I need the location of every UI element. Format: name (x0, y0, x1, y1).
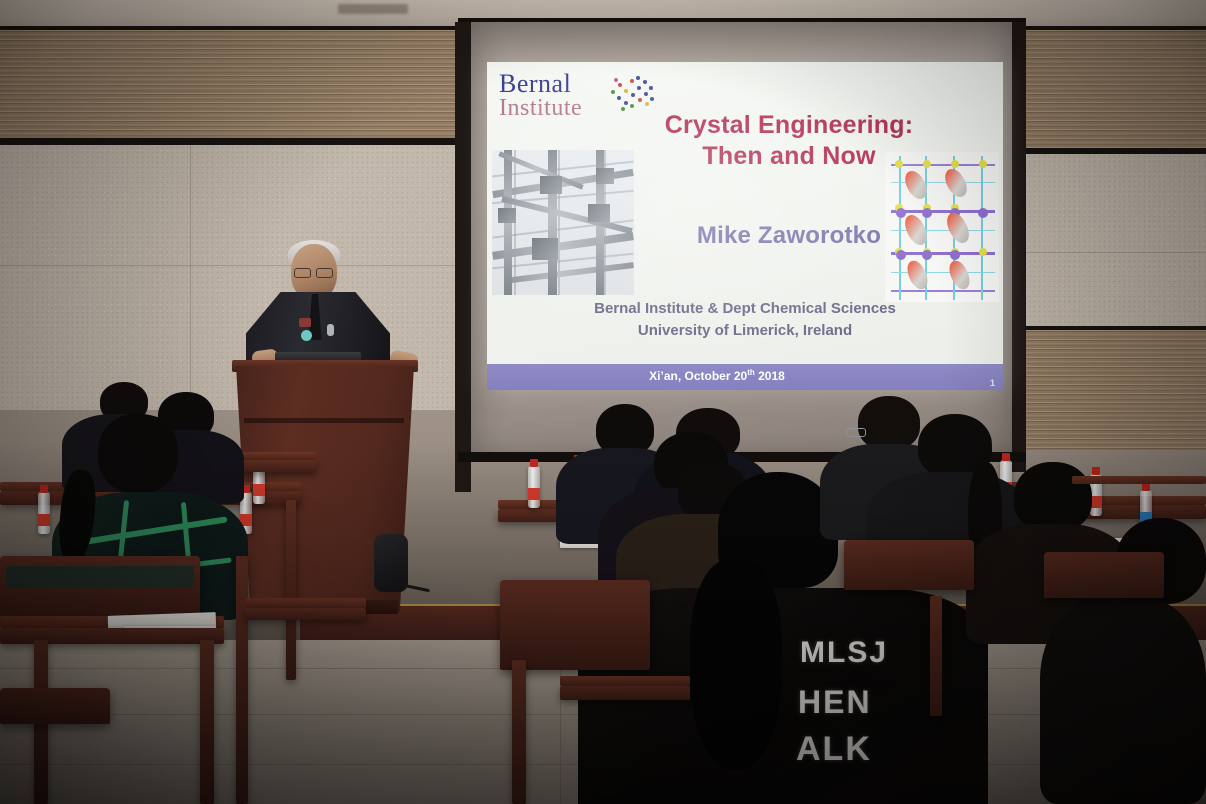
chair-back (500, 580, 650, 670)
desk-surface (560, 676, 690, 686)
water-bottle (528, 466, 540, 508)
lecture-hall-photograph: Bernal Institute (0, 0, 1206, 804)
speaker-name-badge (299, 318, 311, 327)
chair-back (844, 540, 974, 590)
desk-surface (246, 598, 366, 608)
desk (560, 686, 690, 700)
wall-slat-panel-left (0, 30, 468, 140)
desk-leg (286, 500, 296, 680)
jacket-text-line1: MLSJ (800, 636, 888, 670)
wall-slat-panel-right (1022, 30, 1206, 150)
chair-back (0, 688, 110, 724)
footer-date-superscript: th (747, 368, 755, 377)
desk (246, 608, 366, 620)
chair-cushion (6, 566, 194, 588)
desk-leg (512, 660, 526, 804)
footer-date-suffix: 2018 (755, 369, 785, 383)
screen-frame-right (1012, 22, 1026, 472)
slide-title-line1: Crystal Engineering: (619, 110, 959, 141)
ceiling-vent-icon (338, 4, 408, 14)
affiliation-line1: Bernal Institute & Dept Chemical Science… (515, 298, 975, 320)
slide-title-line2: Then and Now (619, 141, 959, 172)
presentation-slide: Bernal Institute (487, 62, 1003, 390)
slide-footer-bar: Xi’an, October 20th 2018 1 (487, 364, 1003, 390)
desk-leg (200, 640, 214, 804)
speaker-lapel-pin (301, 330, 312, 341)
wall-slat-panel-lower-right (1022, 330, 1206, 450)
screen-frame-left (455, 22, 471, 492)
wall-plaster-right (1022, 154, 1206, 326)
water-bottle (38, 492, 50, 534)
slide-author-name: Mike Zaworotko (619, 222, 959, 250)
slide-title: Crystal Engineering: Then and Now (619, 110, 959, 172)
chair-back (1044, 552, 1164, 598)
wall-trim (0, 138, 468, 145)
slide-affiliation: Bernal Institute & Dept Chemical Science… (515, 298, 975, 342)
desk-surface (1072, 476, 1206, 484)
desk-leg (930, 596, 942, 716)
affiliation-line2: University of Limerick, Ireland (515, 320, 975, 342)
slide-footer-date: Xi’an, October 20th 2018 (487, 368, 947, 383)
footer-date-prefix: Xi’an, October 20 (649, 369, 747, 383)
logo-dot-cluster-icon (607, 74, 653, 114)
podium-trim (244, 418, 404, 423)
speaker-glasses-icon (294, 268, 334, 276)
jacket-text-line3: ALK (796, 730, 872, 769)
jacket-text-line2: HEN (798, 684, 872, 721)
glasses-icon (846, 428, 866, 437)
scaffolding-lattice-photo (492, 150, 634, 295)
desk-leg (236, 556, 248, 804)
speaker-lapel-pin-2 (327, 324, 334, 336)
slide-page-number: 1 (990, 378, 995, 388)
